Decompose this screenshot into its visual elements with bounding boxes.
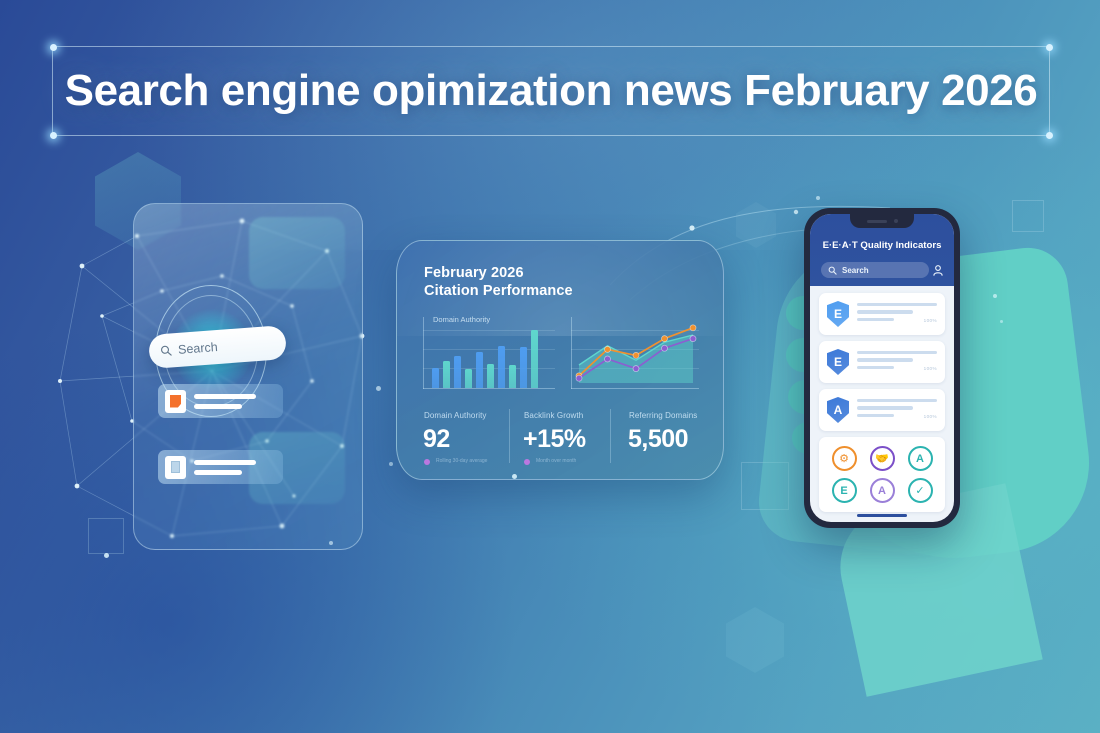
shield-icon: A (827, 397, 849, 423)
gear-badge-icon[interactable]: ⚙ (832, 446, 857, 471)
phone-notch (850, 214, 914, 228)
bar-series (432, 330, 538, 388)
bar-chart-x-axis (423, 388, 555, 389)
bar-5 (476, 352, 483, 388)
domain-authority-bar-chart: Domain Authority (423, 317, 555, 389)
square-decor-1 (1012, 200, 1044, 232)
data-point (690, 325, 696, 331)
bar-2 (443, 361, 450, 388)
data-point (605, 346, 611, 352)
authority-badge-icon[interactable]: A (870, 478, 895, 503)
kpi-dot (424, 459, 430, 465)
data-point (633, 352, 639, 358)
data-point (576, 375, 582, 381)
placeholder-line (857, 303, 937, 306)
placeholder-line (857, 414, 894, 417)
kpi-divider (509, 409, 510, 463)
data-point (690, 336, 696, 342)
bar-1 (432, 368, 439, 388)
placeholder-line (857, 406, 913, 409)
eeat-card-list: E100%E100%A100% (819, 293, 945, 431)
ar-search-placeholder: Search (178, 340, 219, 357)
float-dot (389, 462, 393, 466)
placeholder-line (857, 358, 913, 361)
orange-document-icon (165, 390, 186, 413)
bar-6 (487, 364, 494, 388)
float-dot (816, 196, 820, 200)
phone-header-title: E·E·A·T Quality Indicators (810, 240, 954, 251)
bar-10 (531, 330, 538, 388)
search-icon (828, 266, 837, 275)
float-dot (104, 553, 109, 558)
page-title: Search engine opimization news February … (53, 47, 1049, 135)
citation-trend-line-chart (571, 317, 699, 389)
kpi-sub-domain-authority: Rolling 30-day average (436, 458, 487, 464)
eeat-score: 100% (924, 318, 937, 323)
user-icon[interactable] (932, 264, 944, 276)
white-document-icon (165, 456, 186, 479)
bar-chart-label: Domain Authority (433, 315, 490, 324)
placeholder-line (857, 351, 937, 354)
citation-performance-panel: February 2026 Citation Performance Domai… (396, 240, 724, 480)
float-dot (512, 474, 517, 479)
kpi-divider (610, 409, 611, 463)
kpi-label-domain-authority: Domain Authority (424, 411, 487, 420)
eeat-card-lines: 100% (857, 301, 937, 321)
kpi-value-backlink-growth: +15% (523, 425, 586, 454)
bar-4 (465, 369, 472, 388)
ar-result-lines (194, 460, 256, 475)
kpi-value-domain-authority: 92 (423, 425, 450, 454)
phone-search-placeholder: Search (842, 266, 869, 275)
phone-content: E100%E100%A100% ⚙🤝AEA✓ (810, 286, 954, 522)
kpi-label-backlink-growth: Backlink Growth (524, 411, 583, 420)
eeat-card-1[interactable]: E100% (819, 341, 945, 383)
line-chart-svg (571, 317, 699, 389)
float-dot (376, 386, 381, 391)
eeat-card-2[interactable]: A100% (819, 389, 945, 431)
kpi-value-referring-domains: 5,500 (628, 425, 688, 454)
handshake-badge-icon[interactable]: 🤝 (870, 446, 895, 471)
shield-icon: E (827, 301, 849, 327)
eeat-card-lines: 100% (857, 397, 937, 417)
kpi-dot (524, 459, 530, 465)
data-point (662, 336, 668, 342)
search-icon (160, 344, 173, 357)
ar-result-row-2[interactable] (158, 450, 283, 484)
eeat-score: 100% (924, 366, 937, 371)
poster-canvas: Search engine opimization news February … (0, 0, 1100, 733)
kpi-label-referring-domains: Referring Domains (629, 411, 697, 420)
trust-check-badge-icon[interactable]: ✓ (908, 478, 933, 503)
phone-search-input[interactable]: Search (821, 262, 929, 278)
data-point (633, 366, 639, 372)
bar-3 (454, 356, 461, 388)
eeat-score: 100% (924, 414, 937, 419)
placeholder-line (857, 399, 937, 402)
authority-laurel-badge-icon[interactable]: A (908, 446, 933, 471)
eeat-phone-mockup: E·E·A·T Quality Indicators Search E100%E… (804, 208, 960, 528)
eeat-card-0[interactable]: E100% (819, 293, 945, 335)
bar-9 (520, 347, 527, 388)
data-point (605, 356, 611, 362)
float-dot (993, 294, 997, 298)
eeat-card-lines: 100% (857, 349, 937, 369)
bar-8 (509, 365, 516, 388)
dashboard-heading-line1: February 2026 (424, 265, 524, 281)
experience-badge-icon[interactable]: E (832, 478, 857, 503)
bar-chart-y-axis (423, 317, 424, 389)
float-dot (1000, 320, 1003, 323)
eeat-badge-grid: ⚙🤝AEA✓ (819, 437, 945, 512)
bar-7 (498, 346, 505, 388)
shield-icon: E (827, 349, 849, 375)
phone-home-indicator (857, 514, 907, 517)
placeholder-line (857, 310, 913, 313)
data-point (662, 345, 668, 351)
phone-screen: E·E·A·T Quality Indicators Search E100%E… (810, 214, 954, 522)
placeholder-line (857, 318, 894, 321)
ar-result-lines (194, 394, 256, 409)
float-dot (329, 541, 333, 545)
kpi-sub-backlink-growth: Month over month (536, 458, 576, 464)
title-frame: Search engine opimization news February … (52, 46, 1050, 136)
placeholder-line (857, 366, 894, 369)
dashboard-heading-line2: Citation Performance (424, 283, 573, 299)
ar-result-row-1[interactable] (158, 384, 283, 418)
